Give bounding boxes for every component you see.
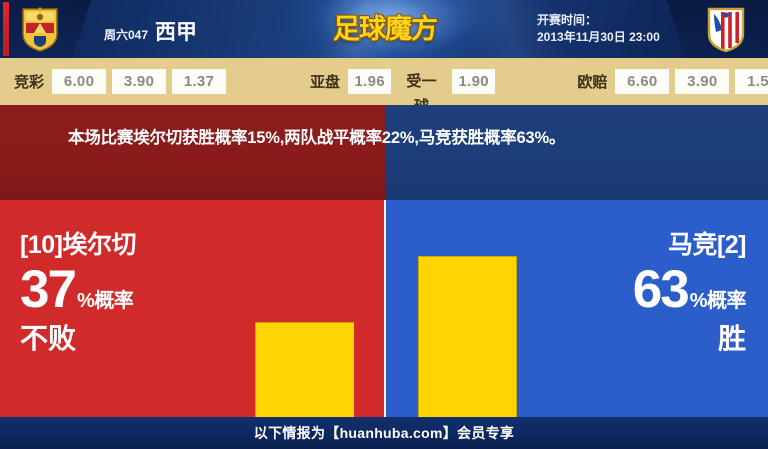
- odds-cell-away[interactable]: 1.90: [452, 69, 495, 94]
- home-probability-suffix: %概率: [77, 284, 133, 313]
- kickoff-time: 2013年11月30日 23:00: [537, 29, 660, 46]
- brand-logo-text: 足球魔方: [330, 9, 440, 49]
- odds-cell-home[interactable]: 6.60: [615, 69, 669, 94]
- away-probability-bar: [418, 256, 517, 417]
- atletico-madrid-crest: [706, 6, 746, 52]
- away-probability-row: 63 %概率: [633, 262, 746, 318]
- match-probability-infographic: 周六047 西甲 足球魔方 开赛时间： 2013年11月30日 23:00 竞彩…: [0, 0, 768, 449]
- odds-cell-home[interactable]: 6.00: [52, 69, 106, 94]
- summary-banner-right-half: [385, 105, 768, 200]
- odds-cell-handicap[interactable]: 受一球: [397, 69, 446, 94]
- odds-group-title: 竞彩: [14, 71, 44, 92]
- elche-crest: [20, 6, 60, 52]
- away-probability-value: 63: [633, 262, 688, 318]
- home-probability-bar: [255, 322, 354, 417]
- odds-group-yapan: 亚盘 1.96 受一球 1.90: [310, 58, 501, 105]
- away-outcome-label: 胜: [633, 322, 746, 356]
- home-outcome-label: 不败: [20, 322, 136, 356]
- left-accent-stripe: [3, 2, 9, 56]
- away-probability-suffix: %概率: [690, 284, 746, 313]
- match-round-label: 周六047: [104, 26, 148, 43]
- kickoff-info: 开赛时间： 2013年11月30日 23:00: [537, 12, 660, 46]
- odds-cell-away[interactable]: 1.51: [735, 69, 768, 94]
- odds-group-jingcai: 竞彩 6.00 3.90 1.37: [14, 58, 232, 105]
- home-team-block: [10]埃尔切 37 %概率 不败: [20, 230, 136, 356]
- odds-bar: 竞彩 6.00 3.90 1.37 亚盘 1.96 受一球 1.90 欧赔 6.…: [0, 58, 768, 105]
- away-team-block: 马竞[2] 63 %概率 胜: [633, 230, 746, 356]
- summary-banner: [0, 105, 768, 200]
- home-probability-value: 37: [20, 262, 75, 318]
- probability-panels: [10]埃尔切 37 %概率 不败 马竞[2] 63 %概率 胜: [0, 200, 768, 417]
- match-label: 周六047 西甲: [104, 16, 197, 46]
- odds-group-oupei: 欧赔 6.60 3.90 1.51: [577, 58, 768, 105]
- kickoff-label: 开赛时间：: [537, 12, 660, 29]
- footer-notice: 以下情报为【huanhuba.com】会员专享: [0, 417, 768, 449]
- odds-cell-draw[interactable]: 3.90: [112, 69, 166, 94]
- match-league-label: 西甲: [155, 16, 197, 46]
- home-probability-row: 37 %概率: [20, 262, 136, 318]
- away-team-name: 马竞[2]: [633, 230, 746, 260]
- summary-banner-left-half: [0, 105, 385, 200]
- odds-cell-draw[interactable]: 3.90: [675, 69, 729, 94]
- brand-logo[interactable]: 足球魔方: [330, 9, 440, 49]
- summary-text: 本场比赛埃尔切获胜概率15%,两队战平概率22%,马竞获胜概率63%。: [68, 124, 716, 152]
- odds-group-title: 欧赔: [577, 71, 607, 92]
- odds-cell-home[interactable]: 1.96: [348, 69, 391, 94]
- header-bar: 周六047 西甲 足球魔方 开赛时间： 2013年11月30日 23:00: [0, 0, 768, 58]
- home-team-panel: [10]埃尔切 37 %概率 不败: [0, 200, 384, 417]
- home-team-name: [10]埃尔切: [20, 230, 136, 260]
- odds-cell-away[interactable]: 1.37: [172, 69, 226, 94]
- away-team-panel: 马竞[2] 63 %概率 胜: [386, 200, 768, 417]
- odds-group-title: 亚盘: [310, 71, 340, 92]
